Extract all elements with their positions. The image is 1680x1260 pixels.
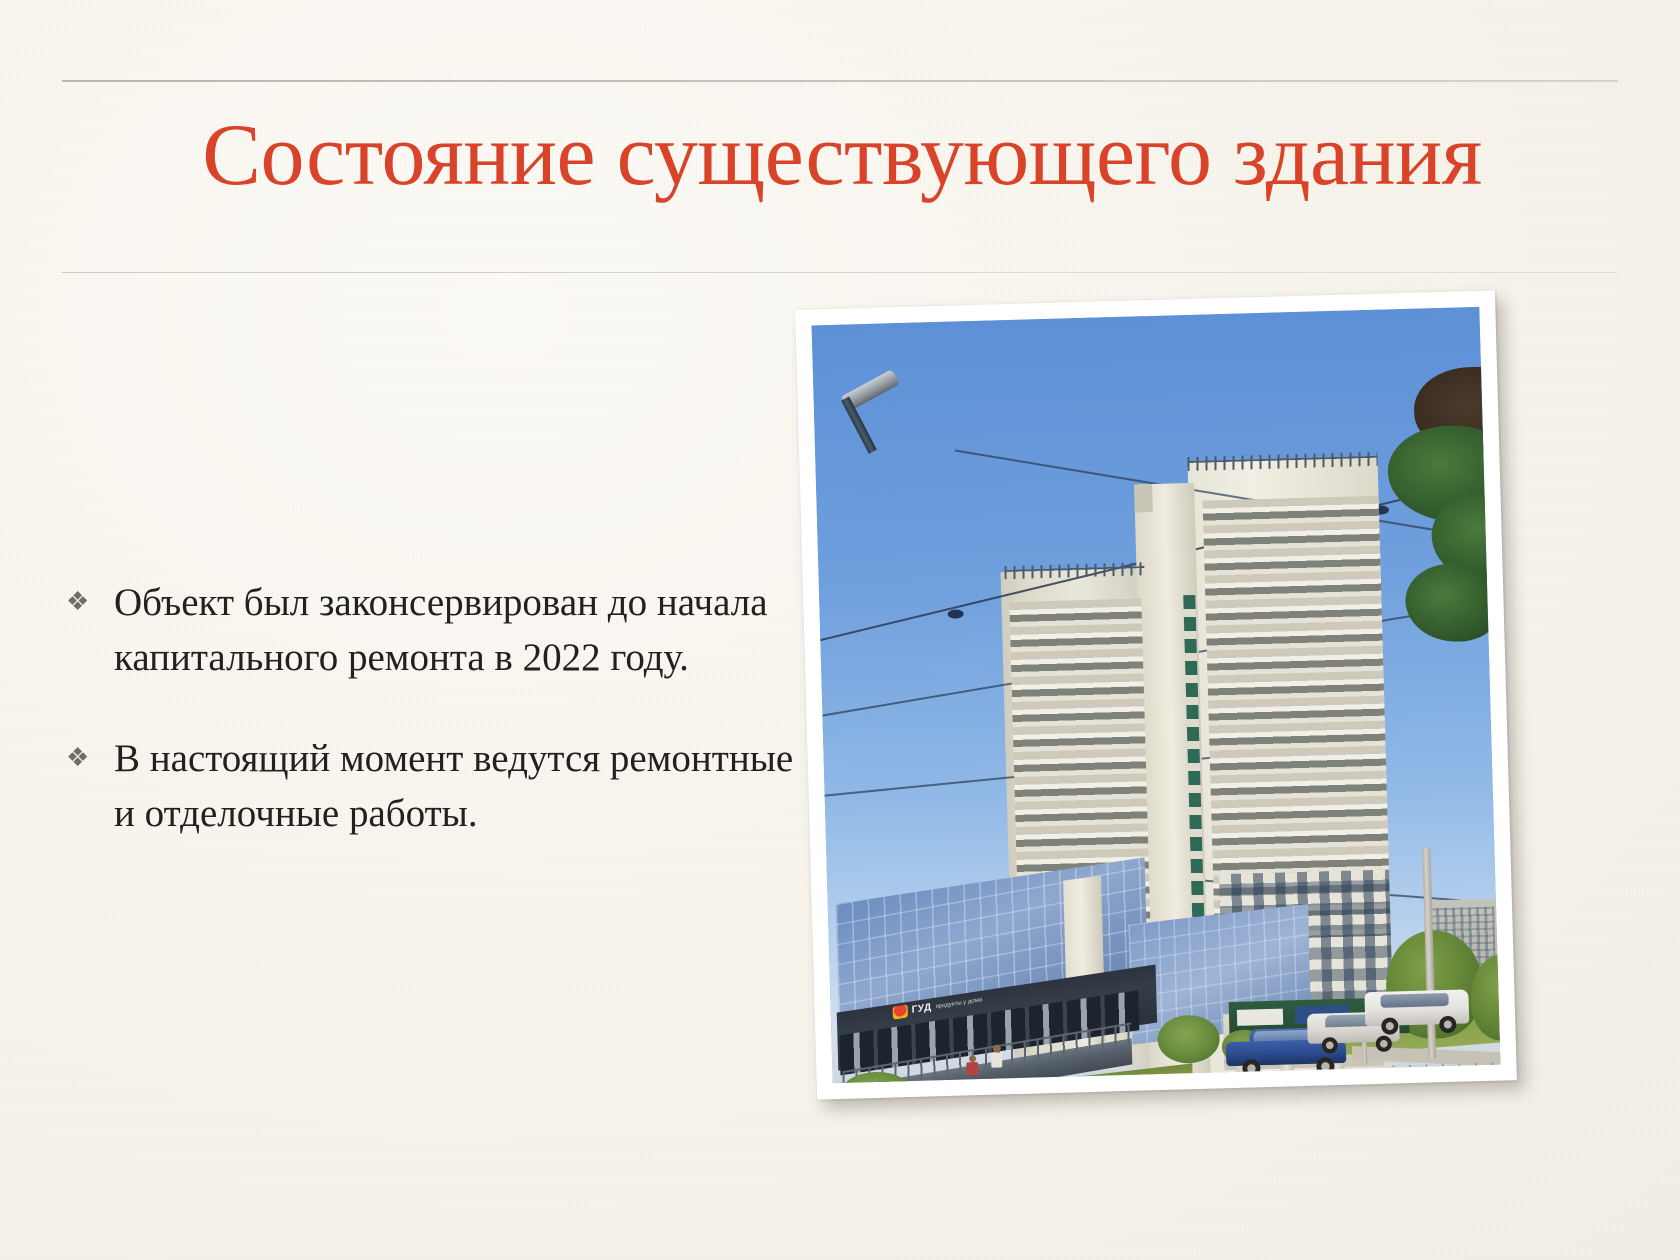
list-item: ❖ Объект был законсервирован до начала к… [58,575,798,685]
bullet-text: В настоящий момент ведутся ремонтные и о… [114,731,798,841]
shop-tagline: продукты у дома [936,997,983,1010]
car-wheel [1322,1037,1338,1053]
shop-name: ГУД [912,1002,932,1016]
car-cabin [973,1080,1092,1083]
bullet-list: ❖ Объект был законсервирован до начала к… [58,575,798,887]
pedestrian-body [966,1062,978,1075]
bullet-text: Объект был законсервирован до начала кап… [114,575,798,685]
slide-root: Состояние существующего здания ❖ Объект … [0,0,1680,1260]
tree-foliage [1404,562,1500,643]
shop-logo-icon [893,1004,908,1019]
list-item: ❖ В настоящий момент ведутся ремонтные и… [58,731,798,841]
building-photo: ГУД продукты у дома [795,290,1517,1099]
car-wheel [1439,1016,1456,1033]
car-white-suv [1364,989,1475,1038]
tram-rails [1392,1061,1500,1083]
car-wheel [1376,1036,1392,1052]
pine-tree [1369,365,1500,659]
car-wheel [1242,1059,1260,1077]
fence-sign [1237,1009,1283,1026]
title-rule-top [62,80,1618,82]
car-wheel [1316,1057,1334,1075]
pedestrian [990,1044,1005,1074]
photo-content: ГУД продукты у дома [812,307,1501,1083]
title-rule-bottom [62,272,1618,273]
tower-core-notch [1134,484,1153,512]
pedestrian [966,1055,981,1081]
diamond-bullet-icon: ❖ [58,575,114,629]
photo-frame: ГУД продукты у дома [795,290,1517,1099]
page-title: Состояние существующего здания [62,108,1622,203]
car-wheel [1381,1017,1398,1034]
pedestrian-head [993,1044,1001,1052]
pedestrian-body [991,1052,1002,1067]
car-windows [1380,993,1448,1008]
diamond-bullet-icon: ❖ [58,731,114,785]
